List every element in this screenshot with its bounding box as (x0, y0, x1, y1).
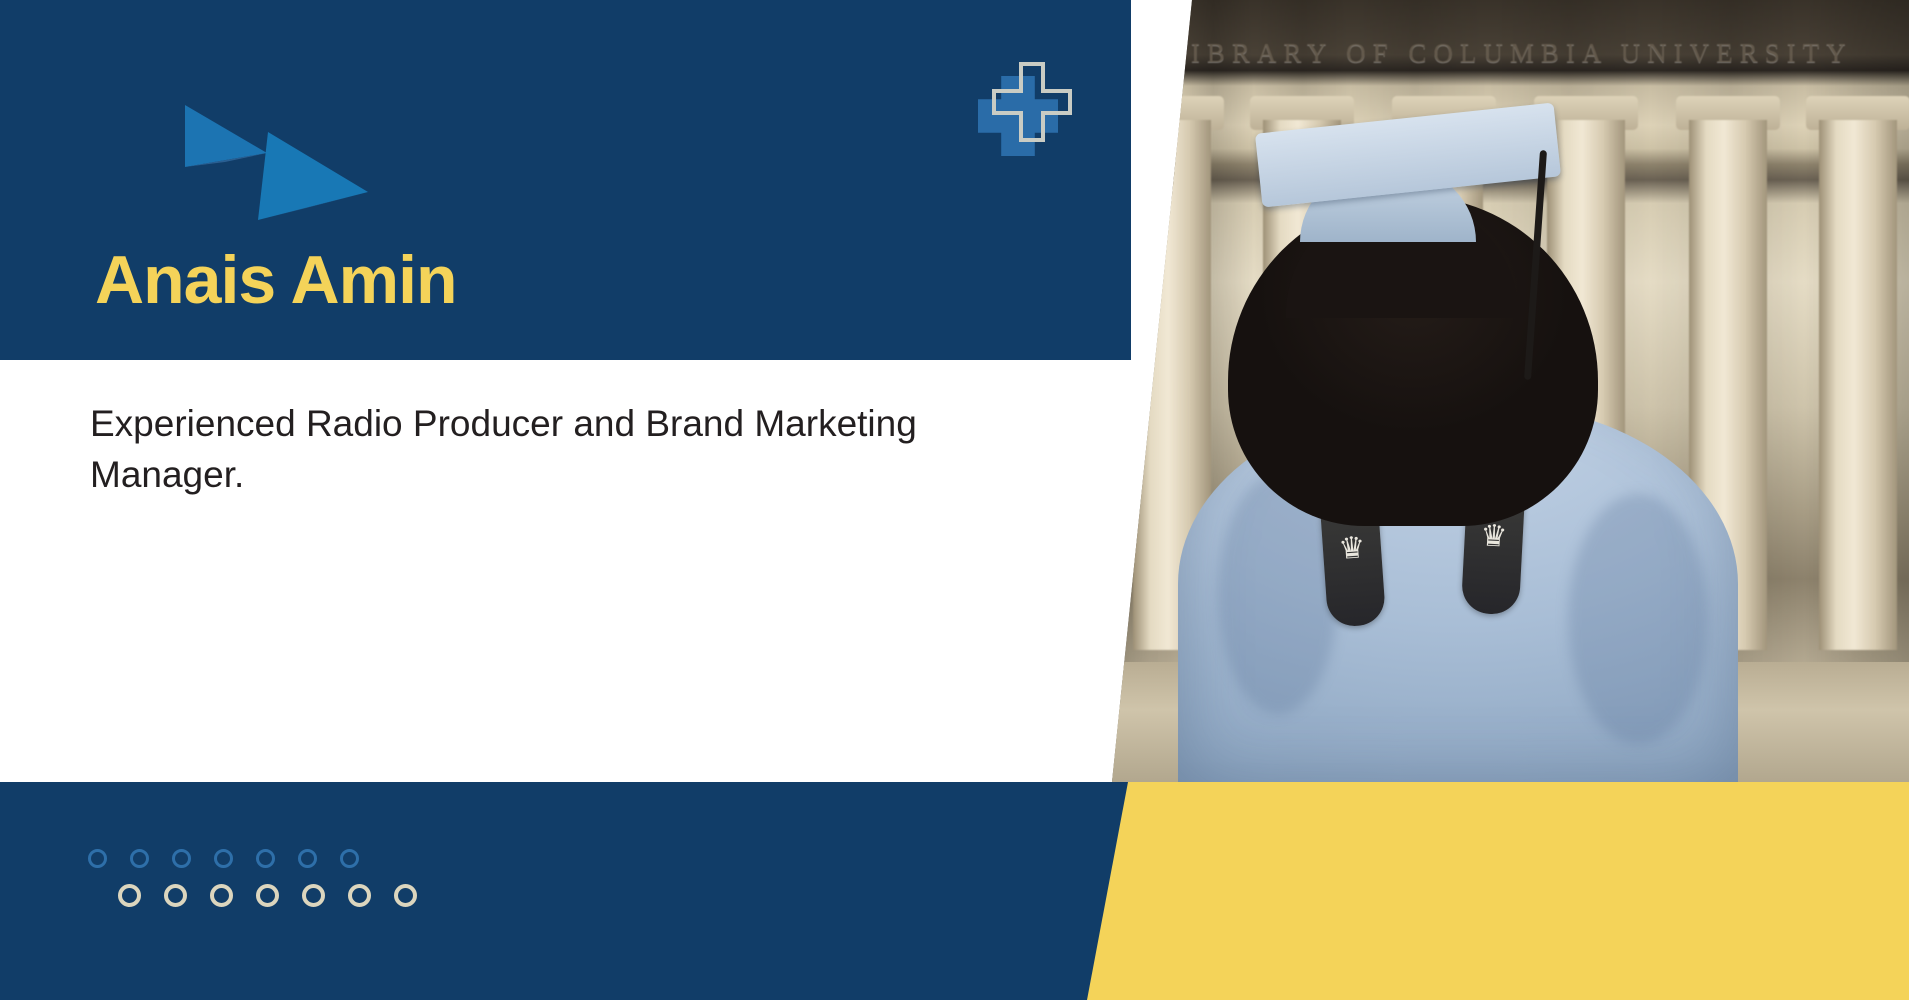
ring-cream (164, 884, 187, 907)
ring-cream (118, 884, 141, 907)
gown-fold (1568, 494, 1708, 744)
ring-cream (348, 884, 371, 907)
ring-blue (256, 849, 275, 868)
crown-icon: ♛ (1322, 532, 1382, 566)
ring-cream (394, 884, 417, 907)
ring-cream (210, 884, 233, 907)
ring-blue (340, 849, 359, 868)
ring-blue (172, 849, 191, 868)
profile-banner-slide: LIBRARY OF COLUMBIA UNIVERSITY ♛ ♛ (0, 0, 1909, 1000)
arrow-triangle-small-icon (185, 105, 267, 173)
ring-blue (214, 849, 233, 868)
portrait-photo: LIBRARY OF COLUMBIA UNIVERSITY ♛ ♛ (1100, 0, 1909, 782)
tagline-text: Experienced Radio Producer and Brand Mar… (90, 398, 970, 500)
yellow-wedge-block (1040, 782, 1909, 1000)
plus-icon-outline (992, 62, 1072, 142)
ring-blue (130, 849, 149, 868)
ring-cream (256, 884, 279, 907)
ring-cream (302, 884, 325, 907)
ring-blue (298, 849, 317, 868)
plus-icon (978, 62, 1074, 158)
library-frieze-text: LIBRARY OF COLUMBIA UNIVERSITY (1100, 38, 1909, 69)
stone-column (1819, 120, 1897, 650)
arrow-triangle-large-icon (258, 132, 368, 222)
page-title: Anais Amin (95, 246, 457, 314)
ring-blue (88, 849, 107, 868)
ring-row-blue (88, 849, 359, 868)
ring-row-cream (118, 884, 417, 907)
